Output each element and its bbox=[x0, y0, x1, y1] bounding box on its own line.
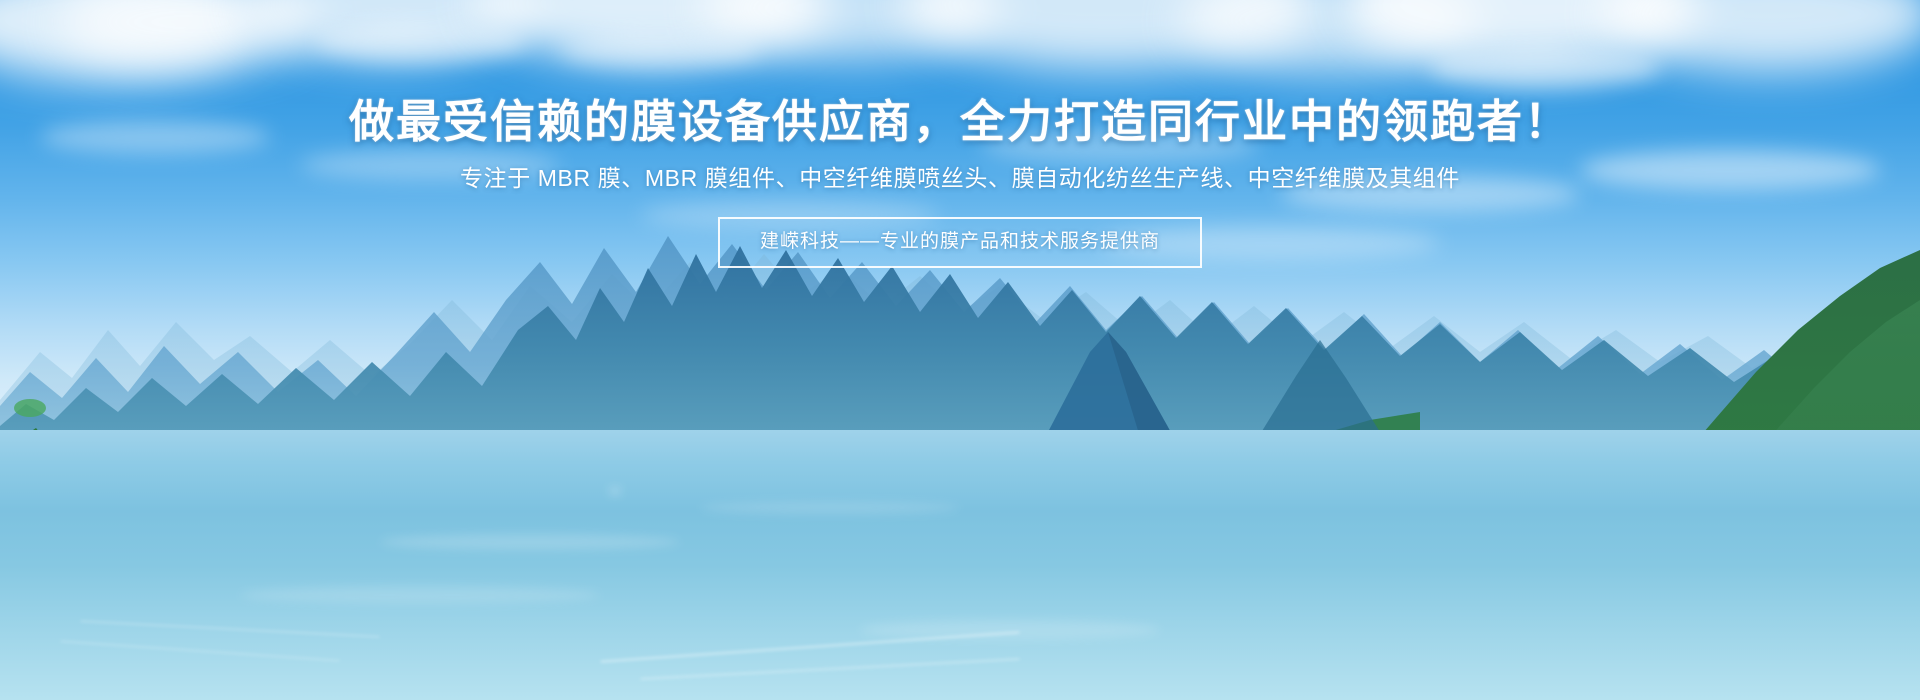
banner-copy: 做最受信赖的膜设备供应商，全力打造同行业中的领跑者！ 专注于 MBR 膜、MBR… bbox=[0, 0, 1920, 268]
banner-headline: 做最受信赖的膜设备供应商，全力打造同行业中的领跑者！ bbox=[0, 97, 1920, 147]
water-glint bbox=[700, 502, 960, 514]
water-glint bbox=[860, 620, 1160, 640]
hero-banner: 做最受信赖的膜设备供应商，全力打造同行业中的领跑者！ 专注于 MBR 膜、MBR… bbox=[0, 0, 1920, 700]
water-glint bbox=[380, 534, 680, 550]
banner-tagline-box[interactable]: 建嵘科技——专业的膜产品和技术服务提供商 bbox=[718, 217, 1202, 268]
lake-water bbox=[0, 430, 1920, 700]
water-glint bbox=[240, 586, 600, 604]
banner-subline: 专注于 MBR 膜、MBR 膜组件、中空纤维膜喷丝头、膜自动化纺丝生产线、中空纤… bbox=[0, 163, 1920, 193]
boat-marker bbox=[610, 488, 620, 494]
